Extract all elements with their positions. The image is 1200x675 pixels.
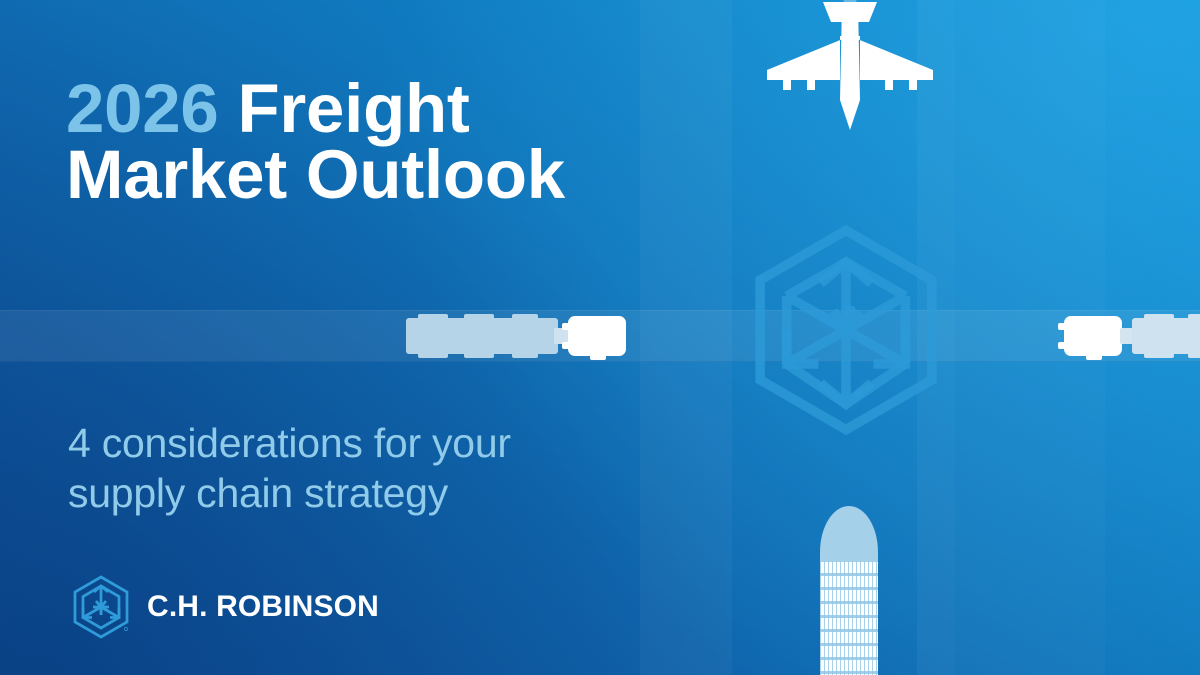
skyscraper-floor-bands	[820, 562, 878, 675]
skyscraper-dome	[820, 506, 878, 566]
airplane-group	[757, 0, 943, 166]
headline-line-1: 2026 Freight	[66, 76, 565, 142]
airplane-top-down-icon	[757, 0, 943, 156]
page-subtitle: 4 considerations for your supply chain s…	[68, 418, 511, 518]
subtitle-line-2: supply chain strategy	[68, 468, 511, 518]
subtitle-line-1: 4 considerations for your	[68, 418, 511, 468]
hexagon-arrows-icon	[72, 575, 130, 639]
skyscraper-icon	[820, 506, 878, 675]
freight-market-outlook-banner: 2026 Freight Market Outlook 4 considerat…	[0, 0, 1200, 675]
headline-line-2: Market Outlook	[66, 142, 565, 208]
hexagon-arrows-watermark-icon	[740, 224, 952, 436]
page-title: 2026 Freight Market Outlook	[66, 76, 565, 208]
brand-wordmark: C.H. ROBINSON	[147, 590, 379, 624]
semi-truck-icon	[1058, 310, 1200, 362]
semi-truck-icon	[404, 310, 630, 362]
brand-logo-lockup: C.H. ROBINSON	[72, 575, 379, 639]
